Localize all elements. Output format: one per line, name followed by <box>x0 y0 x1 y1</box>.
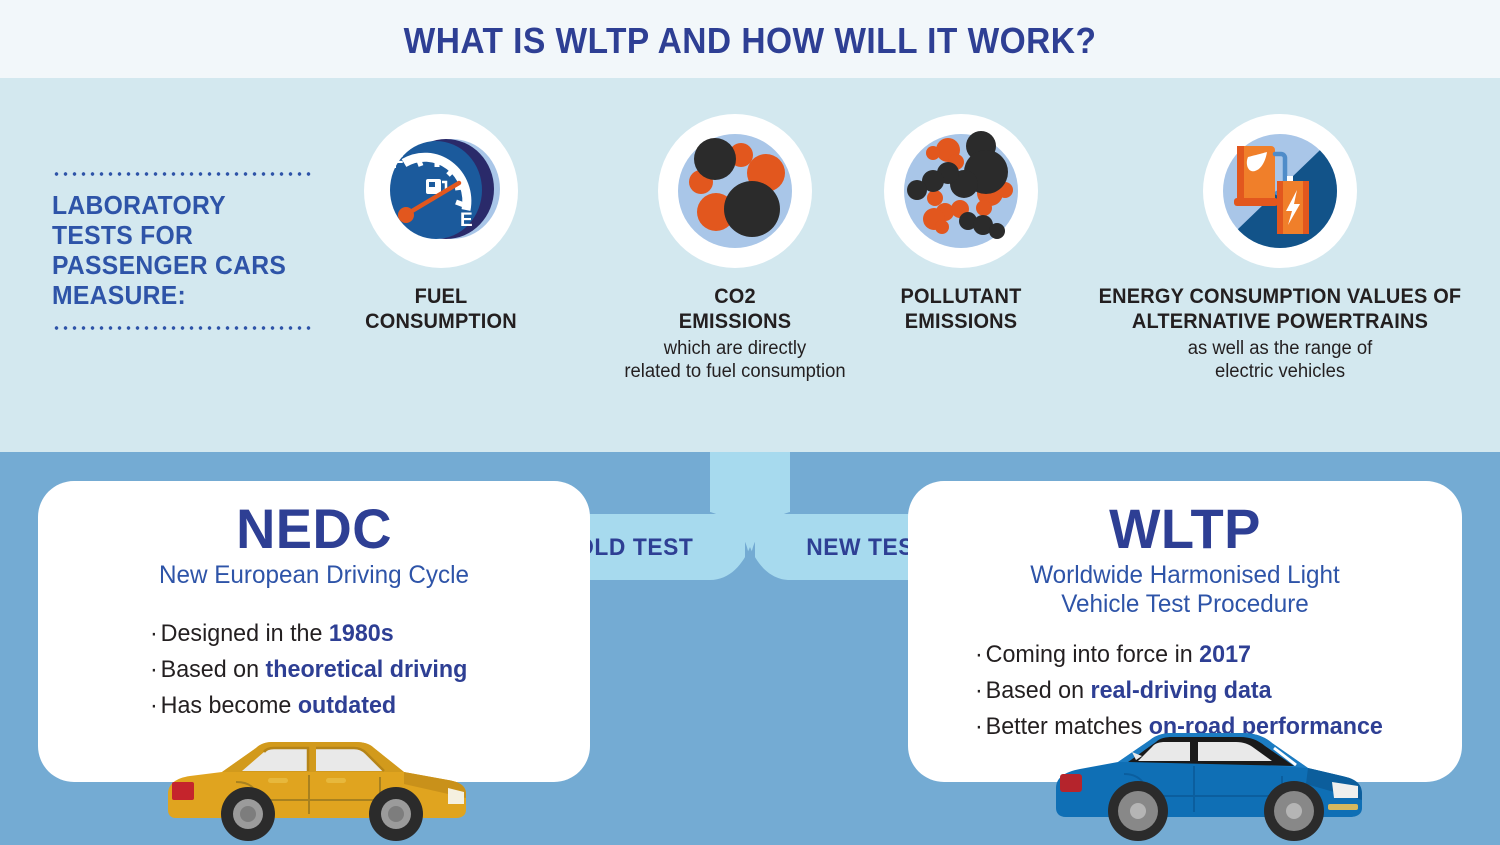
page-title: WHAT IS WLTP AND HOW WILL IT WORK? <box>53 20 1448 62</box>
measure-item-fuel-consumption: F E FUELCONSUMPTION <box>357 114 525 337</box>
list-item: ·Designed in the 1980s <box>150 616 467 652</box>
wltp-subtitle: Worldwide Harmonised LightVehicle Test P… <box>916 561 1453 619</box>
laboratory-tests-block: LABORATORY TESTS FOR PASSENGER CARS MEAS… <box>52 172 314 330</box>
laboratory-tests-label: LABORATORY TESTS FOR PASSENGER CARS MEAS… <box>52 190 301 310</box>
bullet-dot: · <box>975 713 983 740</box>
measure-item-energy-consumption: ENERGY CONSUMPTION VALUES OFALTERNATIVE … <box>1080 114 1480 383</box>
nedc-bullet-list: ·Designed in the 1980s ·Based on theoret… <box>150 616 477 724</box>
co2-molecule-icon <box>658 114 812 268</box>
list-item: ·Based on real-driving data <box>975 673 1383 709</box>
measure-item-pollutant-emissions: POLLUTANTEMISSIONS <box>877 114 1045 337</box>
measure-label-main: POLLUTANTEMISSIONS <box>881 284 1041 334</box>
measure-label-sub: which are directlyrelated to fuel consum… <box>594 337 875 383</box>
dotted-divider-bottom <box>52 326 314 330</box>
measure-label-main: ENERGY CONSUMPTION VALUES OFALTERNATIVE … <box>1090 284 1470 334</box>
measure-label-main: FUELCONSUMPTION <box>361 284 521 334</box>
infographic-page: WHAT IS WLTP AND HOW WILL IT WORK? OLD T… <box>0 0 1500 845</box>
dotted-divider-top <box>52 172 314 176</box>
list-item: ·Has become outdated <box>150 688 467 724</box>
list-item: ·Coming into force in 2017 <box>975 637 1383 673</box>
old-test-label: OLD TEST <box>576 534 693 562</box>
bullet-dot: · <box>150 656 158 683</box>
measure-item-co2-emissions: CO2EMISSIONS which are directlyrelated t… <box>590 114 880 383</box>
bullet-dot: · <box>975 677 983 704</box>
bullet-dot: · <box>975 641 983 668</box>
bullet-dot: · <box>150 692 158 719</box>
list-item: ·Based on theoretical driving <box>150 652 467 688</box>
measure-label-sub: as well as the range ofelectric vehicles <box>1086 337 1474 383</box>
svg-text:F: F <box>392 152 404 173</box>
svg-text:E: E <box>460 210 473 231</box>
measure-label-main: CO2EMISSIONS <box>597 284 873 334</box>
wltp-title: WLTP <box>916 499 1453 559</box>
yellow-classic-sedan-icon <box>160 722 470 845</box>
pollutant-molecules-icon <box>884 114 1038 268</box>
blue-modern-sedan-icon <box>1046 716 1366 845</box>
nedc-title: NEDC <box>46 499 581 559</box>
fuel-gauge-icon: F E <box>364 114 518 268</box>
nedc-subtitle: New European Driving Cycle <box>46 561 581 590</box>
fuel-pump-battery-icon <box>1203 114 1357 268</box>
bullet-dot: · <box>150 620 158 647</box>
